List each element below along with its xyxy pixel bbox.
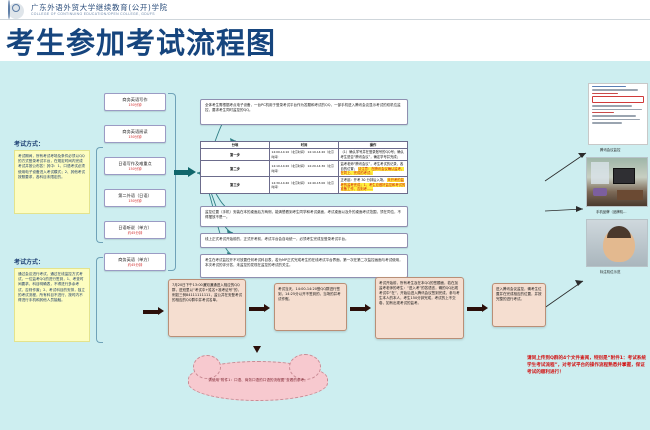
- table-row: 第一步 14:00-14:10（北京时间） 14:10-14:20（北京时间） …: [201, 149, 408, 161]
- col-time: 时间: [270, 142, 339, 149]
- flowchart-canvas: 考试方式： 考试期间，所有考试考场及条件必须以QQ的方式登录考试平台，在规定时间…: [0, 61, 650, 430]
- org-name-en: COLLEGE OF CONTINUING EDUCATION/OPEN COL…: [31, 12, 168, 17]
- important-notice: 请同上传到Q群的4个文件查阅，特别是“附件1：考试系统学生考试流程”，对考试平台…: [527, 355, 647, 377]
- cell-action-text: 正考起：开考 30 分钟后入场。: [341, 178, 387, 182]
- flow-arrow-0: [143, 307, 165, 316]
- screenshot-highlight-box: [592, 96, 644, 103]
- flow-box-2[interactable]: 考试当天，14:00-14:20登QQ群进行签到，14:25分以开不签到的，当场…: [274, 283, 347, 331]
- cloud-text: 请使用“附件1：口语、商务口语的口语的流程图”查看的参考。: [208, 378, 307, 383]
- university-seal-icon: [8, 0, 10, 19]
- page-title: 考生参加考试流程图: [6, 20, 276, 62]
- candidate-photo-caption: 标注机位示范: [600, 269, 620, 274]
- info-box-rules: 考生在考试监控开不可放置任何考试科目表，若为MP正式完成考生的在线考试平台界面，…: [200, 254, 408, 278]
- info-box-top: 全体考生需根据考点电子设备，一台PC机用于登录考试平台作为答题和考试的QQ，一部…: [200, 99, 408, 125]
- meeting-screenshot[interactable]: [588, 83, 648, 145]
- cell-time: 14:00-14:10（北京时间） 14:10-14:20（北京时间）: [270, 149, 339, 161]
- flow-arrow-3: [467, 304, 489, 313]
- flow-box-3[interactable]: 考试开始前，所有考生及在本QQ的签题面，若在加监考老师的考生：“进入考”的答语言…: [375, 277, 464, 339]
- flow-arrow-1: [249, 304, 271, 313]
- step-table-wrapper: 分堆 时间 操作 第一步 14:00-14:10（北京时间） 14:10-14:…: [200, 141, 408, 194]
- exam-room-photo-caption: 手机品牌（品牌机…: [596, 209, 627, 214]
- flow-box-1[interactable]: 7月20日下午13:00通知通通进入相应的QQ群，进班里以“考试中+姓名+准考证…: [168, 279, 246, 337]
- flow-arrow-down: [253, 346, 261, 353]
- candidate-photo[interactable]: [586, 219, 648, 267]
- org-name-cn: 广东外语外贸大学继续教育(公开)学院: [31, 3, 168, 12]
- table-row: 第三步 14:30-14:40（北京时间） 14:40-15:00（北京时间） …: [201, 177, 408, 193]
- exam-room-photo[interactable]: [586, 157, 648, 207]
- col-action: 操作: [339, 142, 408, 149]
- cell-step: 第三步: [201, 177, 270, 193]
- cell-action: 正考起：开考 30 分钟后入场。 未开考的监考的监考完成；1、考生应做好监控和考…: [339, 177, 408, 193]
- cell-step: 第二步: [201, 161, 270, 177]
- page-title-bar: 考生参加考试流程图: [0, 21, 650, 61]
- cell-action: （1）确认学号并在登录账号的QQ号；确认考生是否“腾讯会议”，确定学号并完成；: [339, 149, 408, 161]
- app-header: 广东外语外贸大学继续教育(公开)学院 COLLEGE OF CONTINUING…: [0, 0, 650, 20]
- flow-box-4[interactable]: 进入腾讯会议监控，确考生位置并在完成相应的位置，并按完整的进行考试。: [492, 283, 546, 327]
- meeting-screenshot-caption: 腾讯会议监控: [600, 147, 620, 152]
- cell-step: 第一步: [201, 149, 270, 161]
- step-table: 分堆 时间 操作 第一步 14:00-14:10（北京时间） 14:10-14:…: [200, 141, 408, 194]
- info-box-login: 线上正式考试开始前的，正式开考前，考试平台会自动统一，必须考生完成至登录考试平台…: [200, 233, 408, 248]
- table-header-row: 分堆 时间 操作: [201, 142, 408, 149]
- cloud-callout: 请使用“附件1：口语、商务口语的口语的流程图”查看的参考。: [188, 361, 328, 401]
- col-step: 分堆: [201, 142, 270, 149]
- cell-time: 14:10-14:20（北京时间） 14:20-14:30（北京时间）: [270, 161, 339, 177]
- flow-arrow-2: [350, 304, 372, 313]
- cell-action: 监考老师“腾讯会议”，考生考试的记录，各自的位置； 请注意：在腾讯会议确认监考，…: [339, 161, 408, 177]
- info-box-monitor-position: 监控位置（手机）安装在本的桌面后方两侧，能清楚看到考生同学和考试桌面，考试桌面以…: [200, 206, 408, 227]
- table-row: 第二步 14:10-14:20（北京时间） 14:20-14:30（北京时间） …: [201, 161, 408, 177]
- cell-time: 14:30-14:40（北京时间） 14:40-15:00（北京时间）: [270, 177, 339, 193]
